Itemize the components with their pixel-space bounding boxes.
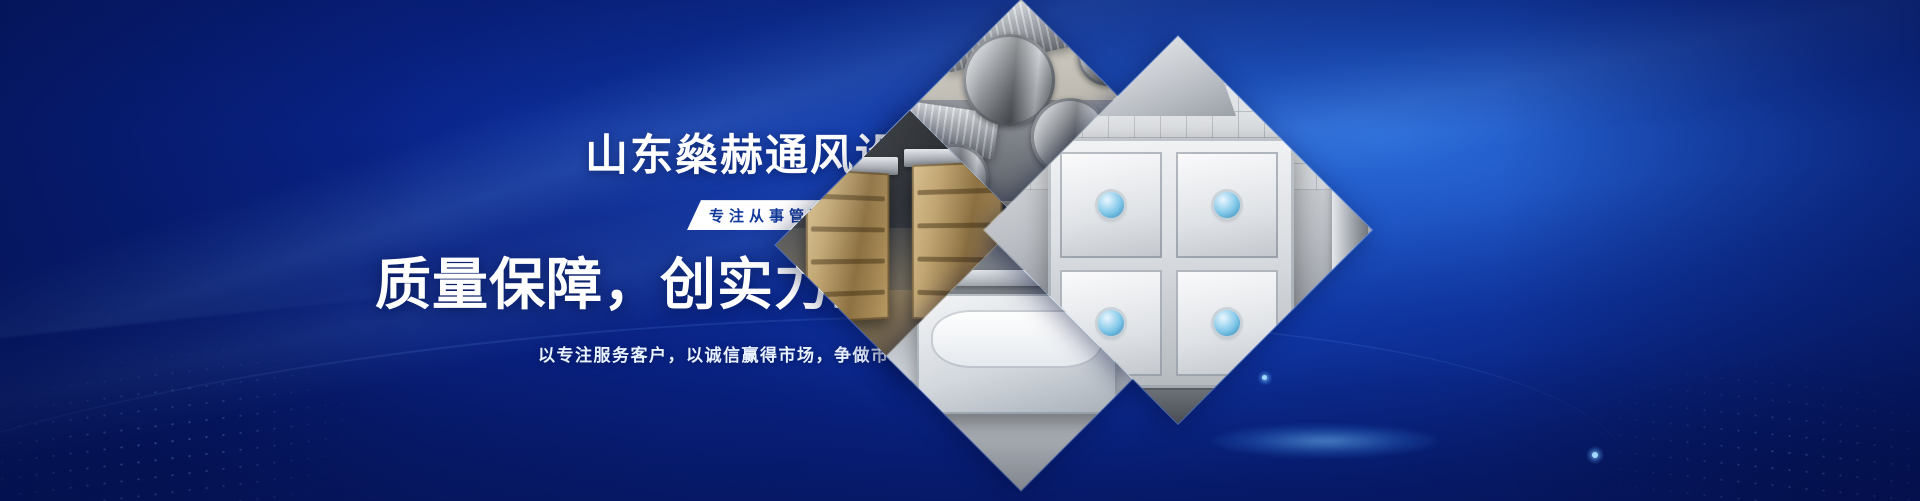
hero-banner: 山东燊赫通风设备 专注从事管道加工类工程 质量保障，创实力企业 以专注服务客户，… [0, 0, 1920, 501]
duct-ring-3 [1077, 24, 1139, 86]
cabinet-slat [811, 226, 885, 232]
glow-dot-icon-3 [1592, 452, 1598, 458]
gauge-icon [1214, 192, 1240, 218]
cabinet-slat [917, 188, 997, 195]
gauge-icon [1098, 310, 1124, 336]
glow-dot-icon-2 [1262, 375, 1267, 380]
ahu-access-door [1060, 152, 1162, 258]
cabinet-slat [811, 193, 885, 201]
wood-cabinet-1 [806, 168, 890, 323]
floor-glow [1210, 424, 1440, 458]
ahu-access-door [1176, 152, 1278, 258]
diamond-photo-collage [806, 32, 1236, 462]
cabinet-slat [811, 290, 885, 298]
cabinet-slat [811, 259, 885, 265]
gauge-icon [1214, 310, 1240, 336]
gauge-icon [1098, 192, 1124, 218]
